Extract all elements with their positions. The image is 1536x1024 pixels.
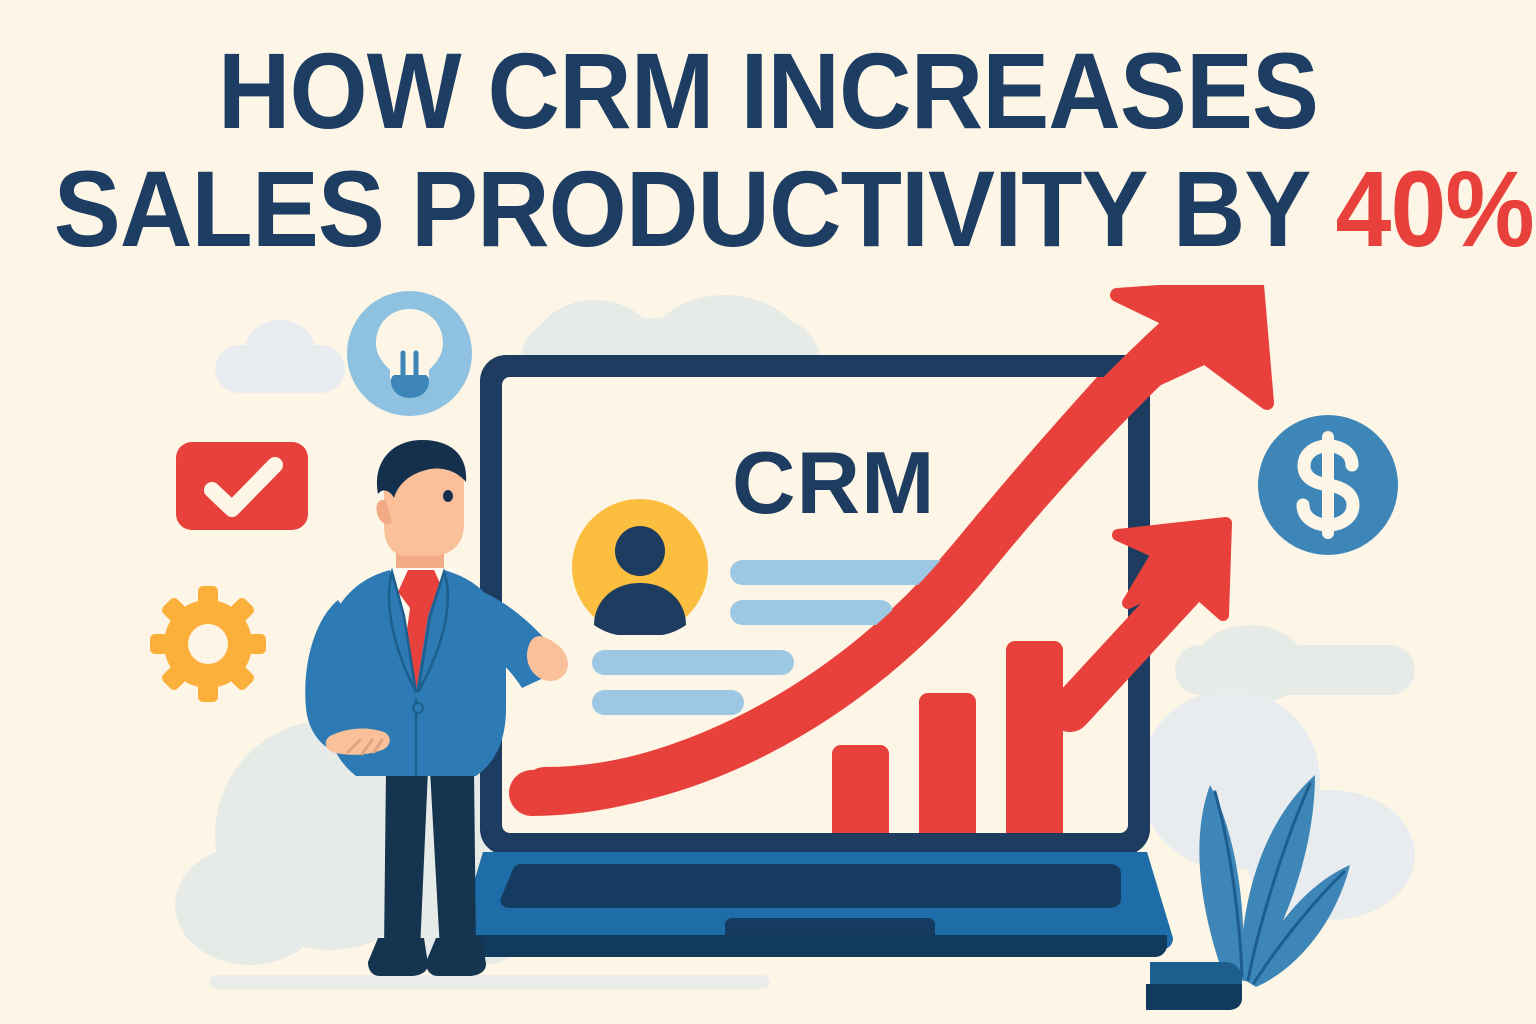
headline-accent-40-percent: 40% [1336, 148, 1534, 269]
left-shoe [368, 938, 428, 976]
cloud-bump-top-left [245, 320, 315, 380]
businessman-figure [268, 440, 568, 990]
right-shoe [426, 938, 486, 976]
gear-icon [150, 586, 266, 702]
page-title: HOW CRM INCREASES SALES PRODUCTIVITY BY … [0, 36, 1536, 264]
jacket-button [413, 703, 423, 713]
left-leg [384, 770, 428, 950]
right-leg [430, 770, 476, 950]
eye [443, 490, 453, 502]
headline-line-2: SALES PRODUCTIVITY BY 40% [54, 154, 1482, 264]
lightbulb-icon [347, 291, 472, 416]
growth-arrow-secondary [1040, 515, 1270, 745]
headline-line-2-text: SALES PRODUCTIVITY BY [54, 148, 1336, 269]
infographic-canvas: HOW CRM INCREASES SALES PRODUCTIVITY BY … [0, 0, 1536, 1024]
headline-line-1: HOW CRM INCREASES [54, 36, 1482, 146]
